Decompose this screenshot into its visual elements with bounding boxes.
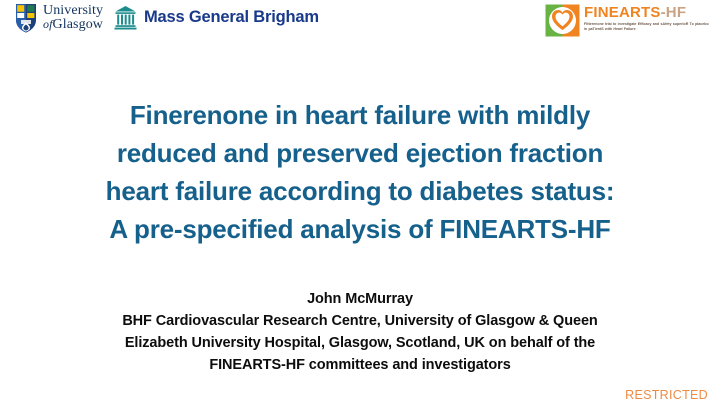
presenter-name: John McMurray [40,288,680,310]
presentation-slide: University ofGlasgow Mass Genera [0,0,720,406]
glasgow-wordmark-line1: University [43,4,103,18]
finearts-hf-textblock: FINEARTS-HF FINerenone trIal to investig… [584,4,712,32]
glasgow-crest-icon [14,3,38,33]
finearts-hf-wordmark: FINEARTS-HF [584,5,712,20]
affiliation-line-2: Elizabeth University Hospital, Glasgow, … [40,332,680,354]
author-affiliation-block: John McMurray BHF Cardiovascular Researc… [40,288,680,376]
heart-in-square-icon [545,4,580,37]
university-of-glasgow-logo: University ofGlasgow [14,3,103,33]
mass-general-brigham-wordmark: Mass General Brigham [144,8,319,27]
header-logo-row: University ofGlasgow Mass Genera [0,0,720,44]
finearts-hf-wordmark-main: FINEARTS [584,4,661,21]
glasgow-wordmark-line2: ofGlasgow [43,18,103,32]
slide-title-line-2: reduced and preserved ejection fraction [30,134,690,172]
slide-title-line-4: A pre-specified analysis of FINEARTS-HF [30,210,690,248]
restricted-label: RESTRICTED [625,388,708,402]
affiliation-line-3: FINEARTS-HF committees and investigators [40,354,680,376]
finearts-hf-tagline: FINerenone trIal to investigate Efficacy… [584,22,712,32]
finearts-hf-trial-logo: FINEARTS-HF FINerenone trIal to investig… [545,4,712,37]
slide-title-line-3: heart failure according to diabetes stat… [30,172,690,210]
glasgow-wordmark-glasgow: Glasgow [53,17,103,32]
columned-building-icon [114,5,137,30]
glasgow-wordmark: University ofGlasgow [43,4,103,32]
slide-title: Finerenone in heart failure with mildly … [30,96,690,248]
affiliation-line-1: BHF Cardiovascular Research Centre, Univ… [40,310,680,332]
mass-general-brigham-logo: Mass General Brigham [114,5,319,30]
glasgow-wordmark-of: of [43,17,53,31]
slide-title-line-1: Finerenone in heart failure with mildly [30,96,690,134]
finearts-hf-wordmark-suffix: -HF [661,4,687,21]
